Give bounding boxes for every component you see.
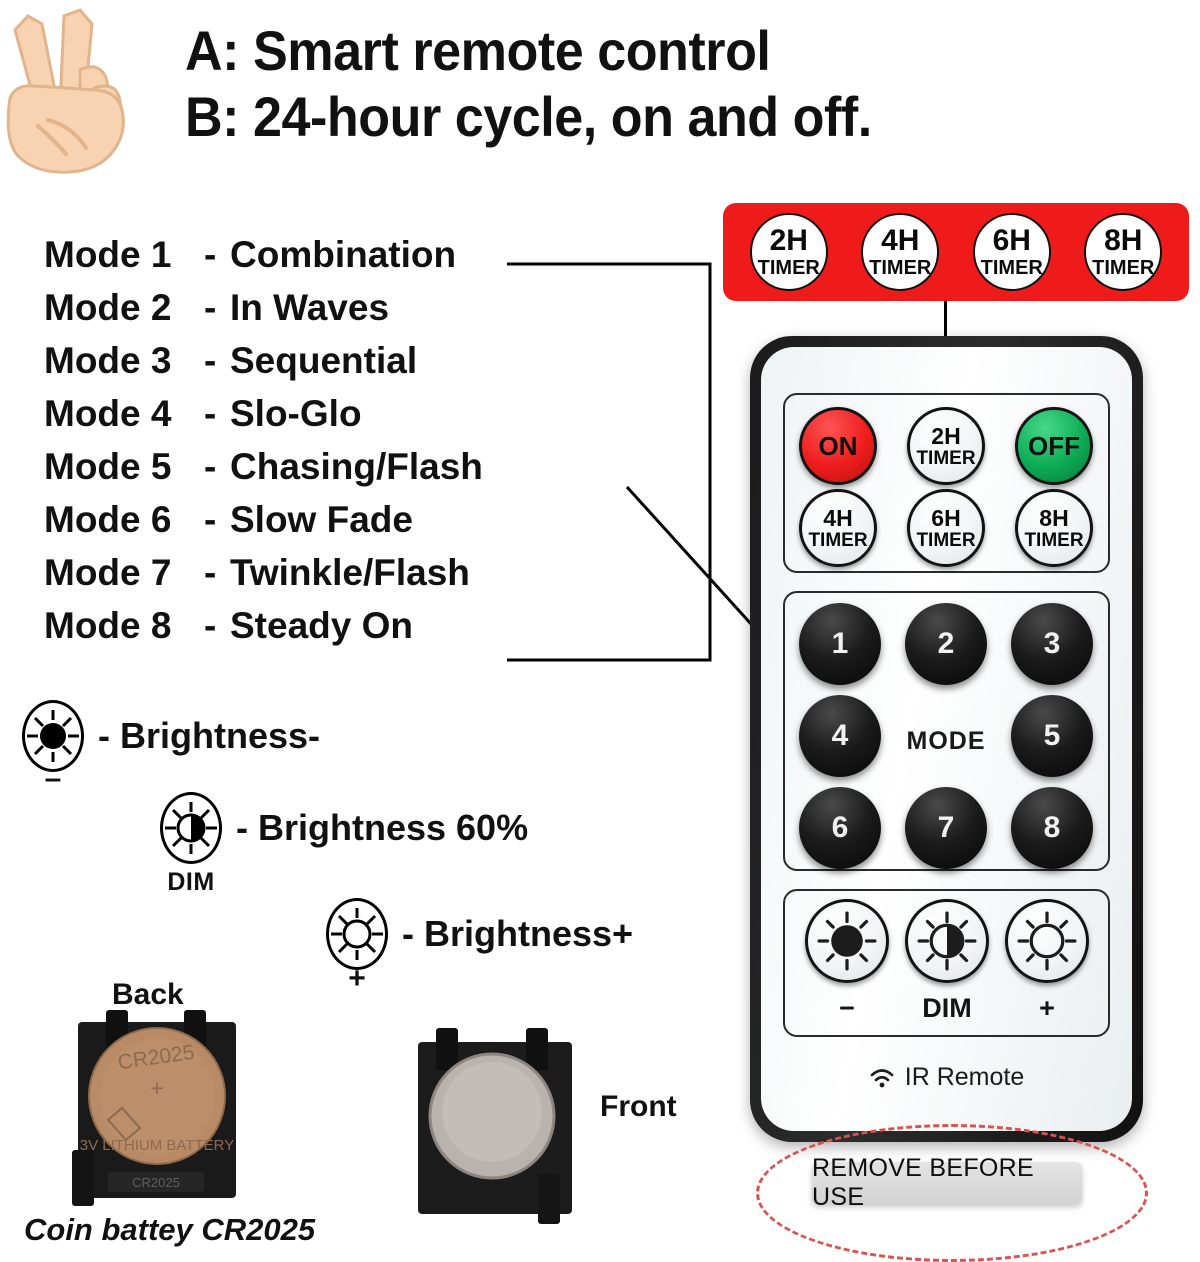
timer-8h-word: TIMER — [1024, 531, 1083, 550]
mode-row: Mode 5 - Chasing/Flash — [44, 448, 564, 501]
mode-label: Mode 8 — [44, 607, 204, 644]
brightness-minus-sign: – — [22, 762, 84, 796]
battery-spec-text: 3V LITHIUM BATTERY — [80, 1137, 234, 1154]
sun-half-icon — [160, 792, 222, 864]
mode-key-label: 3 — [1044, 629, 1061, 659]
mode-key-2[interactable]: 2 — [905, 603, 987, 685]
battery-front-label: Front — [600, 1090, 677, 1124]
timer-4h-hours: 4H — [823, 507, 852, 530]
heading-block: A: Smart remote control B: 24-hour cycle… — [185, 18, 1085, 150]
remove-before-use-tab[interactable]: REMOVE BEFORE USE — [812, 1162, 1082, 1204]
mode-label: Mode 5 — [44, 448, 204, 485]
timer-chip-word: TIMER — [758, 258, 820, 278]
mode-key-4[interactable]: 4 — [799, 695, 881, 777]
dim-down-button[interactable] — [805, 899, 889, 983]
off-button[interactable]: OFF — [1015, 407, 1093, 485]
timer-chip-hours: 8H — [1104, 226, 1142, 256]
battery-polarity-text: + — [150, 1075, 163, 1101]
brightness-legend-row-plus: - Brightness+ — [326, 898, 633, 970]
timer-chip-hours: 2H — [770, 226, 808, 256]
off-button-label: OFF — [1028, 433, 1080, 459]
battery-holder-mark: CR2025 — [132, 1175, 180, 1190]
mode-row: Mode 3 - Sequential — [44, 342, 564, 395]
ir-remote-footer: IR Remote — [761, 1063, 1132, 1092]
battery-front-image — [412, 1028, 578, 1224]
battery-back-label: Back — [112, 978, 184, 1012]
timer-chip-4h[interactable]: 4H TIMER — [861, 213, 939, 291]
mode-label: Mode 6 — [44, 501, 204, 538]
ir-signal-icon — [869, 1066, 895, 1090]
mode-key-6[interactable]: 6 — [799, 787, 881, 869]
brightness-legend-row-dim: - Brightness 60% — [160, 792, 528, 864]
brightness-plus-sign: + — [326, 962, 388, 996]
dim-center-label: DIM — [905, 993, 989, 1024]
mode-row: Mode 7 - Twinkle/Flash — [44, 554, 564, 607]
mode-key-label: 1 — [832, 629, 849, 659]
timer-banner: 2H TIMER 4H TIMER 6H TIMER 8H TIMER — [723, 203, 1189, 301]
heading-line-a: A: Smart remote control — [185, 18, 1022, 84]
remove-before-use-text: REMOVE BEFORE USE — [812, 1154, 1082, 1212]
mode-key-label: 4 — [832, 721, 849, 751]
mode-dash: - — [204, 448, 230, 485]
mode-dash: - — [204, 395, 230, 432]
mode-label: Mode 1 — [44, 236, 204, 273]
on-button[interactable]: ON — [799, 407, 877, 485]
heading-line-b: B: 24-hour cycle, on and off. — [185, 84, 1022, 150]
timer-chip-8h[interactable]: 8H TIMER — [1084, 213, 1162, 291]
mode-dash: - — [204, 501, 230, 538]
brightness-dim-sublabel: DIM — [160, 868, 222, 897]
dim-plus-label: + — [1005, 993, 1089, 1024]
mode-row: Mode 6 - Slow Fade — [44, 501, 564, 554]
mode-key-5[interactable]: 5 — [1011, 695, 1093, 777]
timer-6h-button[interactable]: 6H TIMER — [907, 489, 985, 567]
mode-pad-center-label: MODE — [905, 727, 987, 756]
ir-remote-text: IR Remote — [905, 1063, 1024, 1092]
mode-dash: - — [204, 607, 230, 644]
mode-key-label: 2 — [938, 629, 955, 659]
victory-hand-icon — [2, 2, 178, 182]
mode-key-label: 7 — [938, 813, 955, 843]
mode-key-7[interactable]: 7 — [905, 787, 987, 869]
mode-label: Mode 3 — [44, 342, 204, 379]
mode-row: Mode 2 - In Waves — [44, 289, 564, 342]
mode-key-8[interactable]: 8 — [1011, 787, 1093, 869]
timer-chip-word: TIMER — [1092, 258, 1154, 278]
mode-row: Mode 8 - Steady On — [44, 607, 564, 660]
brightness-plus-label: - Brightness+ — [402, 913, 633, 955]
ir-remote-device: ON 2H TIMER OFF 4H TIMER 6H TIMER 8H TIM… — [750, 336, 1143, 1142]
brightness-minus-label: - Brightness- — [98, 715, 320, 757]
mode-list: Mode 1 - Combination Mode 2 - In Waves M… — [44, 236, 564, 660]
timer-4h-word: TIMER — [808, 531, 867, 550]
dim-minus-label: − — [805, 993, 889, 1024]
brightness-dim-label: - Brightness 60% — [236, 807, 528, 849]
mode-key-3[interactable]: 3 — [1011, 603, 1093, 685]
timer-2h-button[interactable]: 2H TIMER — [907, 407, 985, 485]
mode-label: Mode 2 — [44, 289, 204, 326]
timer-chip-6h[interactable]: 6H TIMER — [973, 213, 1051, 291]
timer-chip-hours: 6H — [993, 226, 1031, 256]
battery-back-image: CR2025 + 3V LITHIUM BATTERY CR2025 — [72, 1010, 242, 1206]
on-button-label: ON — [819, 433, 858, 459]
timer-2h-hours: 2H — [931, 425, 960, 448]
mode-key-label: 6 — [832, 813, 849, 843]
timer-chip-hours: 4H — [881, 226, 919, 256]
timer-8h-button[interactable]: 8H TIMER — [1015, 489, 1093, 567]
mode-label: Mode 7 — [44, 554, 204, 591]
remote-faceplate: ON 2H TIMER OFF 4H TIMER 6H TIMER 8H TIM… — [761, 347, 1132, 1131]
mode-label: Mode 4 — [44, 395, 204, 432]
timer-chip-word: TIMER — [869, 258, 931, 278]
timer-chip-word: TIMER — [981, 258, 1043, 278]
mode-dash: - — [204, 289, 230, 326]
coin-battery-caption: Coin battey CR2025 — [24, 1212, 315, 1248]
mode-dash: - — [204, 342, 230, 379]
mode-key-label: 5 — [1044, 721, 1061, 751]
timer-2h-word: TIMER — [916, 449, 975, 468]
mode-key-label: 8 — [1044, 813, 1061, 843]
mode-dash: - — [204, 554, 230, 591]
mode-row: Mode 1 - Combination — [44, 236, 564, 289]
sun-empty-icon — [326, 898, 388, 970]
timer-8h-hours: 8H — [1039, 507, 1068, 530]
timer-6h-word: TIMER — [916, 531, 975, 550]
timer-4h-button[interactable]: 4H TIMER — [799, 489, 877, 567]
dim-mid-button[interactable] — [905, 899, 989, 983]
dim-up-button[interactable] — [1005, 899, 1089, 983]
timer-6h-hours: 6H — [931, 507, 960, 530]
mode-dash: - — [204, 236, 230, 273]
timer-chip-2h[interactable]: 2H TIMER — [750, 213, 828, 291]
mode-key-1[interactable]: 1 — [799, 603, 881, 685]
mode-row: Mode 4 - Slo-Glo — [44, 395, 564, 448]
